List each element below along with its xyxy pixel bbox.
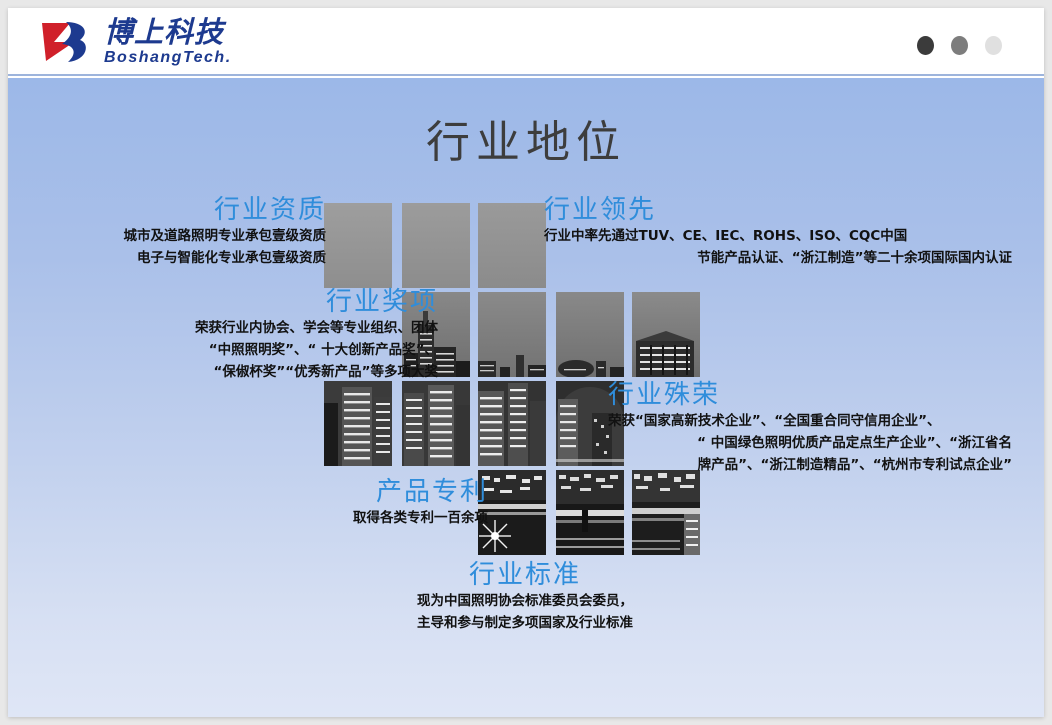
block-heading: 行业殊荣 — [608, 381, 1012, 411]
block-heading: 行业领先 — [544, 196, 1012, 226]
slide-canvas: 行业地位 — [8, 78, 1044, 717]
photo-tile — [478, 470, 546, 555]
photo-tile — [324, 381, 392, 466]
block-line: 荣获“国家高新技术企业”、“全国重合同守信用企业”、 — [608, 411, 1012, 433]
logo-text-cn: 博上科技 — [104, 18, 232, 47]
dot-dark-icon[interactable] — [917, 36, 934, 55]
photo-tile — [324, 203, 392, 288]
logo-text: 博上科技 BoshangTech. — [104, 18, 232, 66]
photo-tile — [632, 292, 700, 377]
block-heading: 行业奖项 — [108, 288, 438, 318]
block-line: “保俶杯奖”“优秀新产品”等多项大奖 — [108, 362, 438, 384]
block-patent: 产品专利 取得各类专利一百余项 — [278, 478, 488, 530]
photo-tile — [478, 292, 546, 377]
block-awards: 行业奖项 荣获行业内协会、学会等专业组织、团体 “中照照明奖”、“ 十大创新产品… — [108, 288, 438, 383]
block-leading: 行业领先 行业中率先通过TUV、CE、IEC、ROHS、ISO、CQC中国 节能… — [544, 196, 1012, 270]
block-standard: 行业标准 现为中国照明协会标准委员会委员， 主导和参与制定多项国家及行业标准 — [360, 561, 690, 635]
block-body: 城市及道路照明专业承包壹级资质 电子与智能化专业承包壹级资质 — [26, 226, 326, 270]
dot-mid-icon[interactable] — [951, 36, 968, 55]
app-header: 博上科技 BoshangTech. — [8, 8, 1044, 76]
block-line: 牌产品”、“浙江制造精品”、“杭州市专利试点企业” — [608, 455, 1012, 477]
block-heading: 行业标准 — [360, 561, 690, 591]
block-line: 现为中国照明协会标准委员会委员， — [360, 591, 690, 613]
block-body: 取得各类专利一百余项 — [278, 508, 488, 530]
block-heading: 行业资质 — [26, 196, 326, 226]
block-line: 取得各类专利一百余项 — [278, 508, 488, 530]
block-line: 荣获行业内协会、学会等专业组织、团体 — [108, 318, 438, 340]
photo-tile — [556, 292, 624, 377]
block-line: 行业中率先通过TUV、CE、IEC、ROHS、ISO、CQC中国 — [544, 226, 1012, 248]
block-line: 主导和参与制定多项国家及行业标准 — [360, 613, 690, 635]
company-logo: 博上科技 BoshangTech. — [40, 18, 232, 66]
block-line: “中照照明奖”、“ 十大创新产品奖”、 — [108, 340, 438, 362]
photo-tile — [556, 470, 624, 555]
block-body: 荣获“国家高新技术企业”、“全国重合同守信用企业”、 “ 中国绿色照明优质产品定… — [608, 411, 1012, 477]
block-qualification: 行业资质 城市及道路照明专业承包壹级资质 电子与智能化专业承包壹级资质 — [26, 196, 326, 270]
photo-tile — [402, 381, 470, 466]
block-body: 现为中国照明协会标准委员会委员， 主导和参与制定多项国家及行业标准 — [360, 591, 690, 635]
block-line: “ 中国绿色照明优质产品定点生产企业”、“浙江省名 — [608, 433, 1012, 455]
photo-tile — [402, 203, 470, 288]
header-dots — [917, 36, 1002, 55]
dot-light-icon[interactable] — [985, 36, 1002, 55]
block-honors: 行业殊荣 荣获“国家高新技术企业”、“全国重合同守信用企业”、 “ 中国绿色照明… — [608, 381, 1012, 476]
photo-tile — [478, 381, 546, 466]
block-body: 行业中率先通过TUV、CE、IEC、ROHS、ISO、CQC中国 节能产品认证、… — [544, 226, 1012, 270]
block-heading: 产品专利 — [278, 478, 488, 508]
logo-text-en: BoshangTech. — [104, 50, 232, 66]
photo-tile — [478, 203, 546, 288]
block-line: 节能产品认证、“浙江制造”等二十余项国际国内认证 — [544, 248, 1012, 270]
presentation-window: 博上科技 BoshangTech. 行业地位 — [8, 8, 1044, 717]
block-line: 电子与智能化专业承包壹级资质 — [26, 248, 326, 270]
photo-tile — [632, 470, 700, 555]
block-line: 城市及道路照明专业承包壹级资质 — [26, 226, 326, 248]
block-body: 荣获行业内协会、学会等专业组织、团体 “中照照明奖”、“ 十大创新产品奖”、 “… — [108, 318, 438, 384]
logo-mark-icon — [40, 19, 96, 65]
